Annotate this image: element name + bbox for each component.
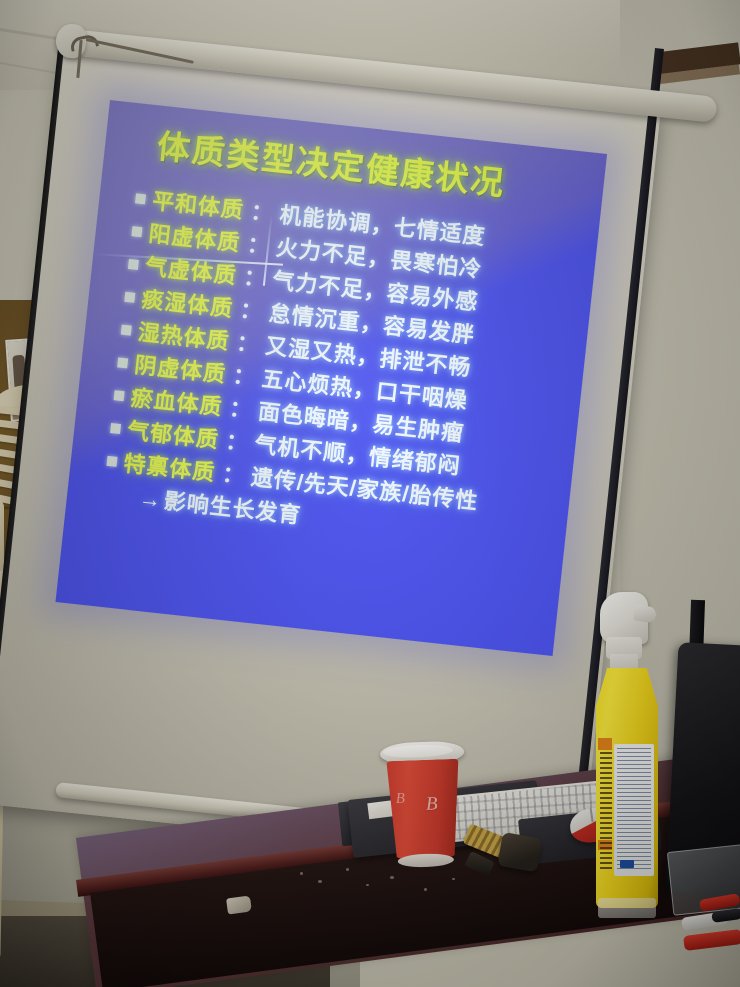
- cup-lid-inner: [383, 744, 453, 758]
- cup-base: [398, 853, 454, 868]
- classroom-photo-scene: 体质类型决定健康状况 平和体质 ： 机能协调，七情适度 阳虚体质 ： 火力不足，…: [0, 0, 740, 987]
- desk-speck: [346, 868, 349, 871]
- bullet-colon: ：: [246, 227, 271, 261]
- spray-label-logo: [620, 860, 634, 868]
- slide-bullet-list: 平和体质 ： 机能协调，七情适度 阳虚体质 ： 火力不足，畏寒怕冷 气虚体质 ：…: [102, 181, 605, 560]
- desk-speck: [452, 878, 455, 880]
- cup-logo: B: [426, 794, 438, 816]
- skeleton-tibia: [0, 780, 4, 960]
- desk-speck: [390, 876, 394, 879]
- bullet-colon: ：: [228, 391, 253, 425]
- bullet-colon: ：: [231, 358, 256, 392]
- projected-slide: 体质类型决定健康状况 平和体质 ： 机能协调，七情适度 阳虚体质 ： 火力不足，…: [55, 100, 607, 656]
- spray-label-orange-band: [598, 738, 612, 750]
- bullet-square-icon: [128, 258, 139, 269]
- mouse-button-split: [590, 808, 594, 822]
- watch-clasp: [464, 851, 494, 877]
- desk-speck: [300, 872, 303, 875]
- cup-logo-secondary: B: [395, 791, 405, 808]
- bullet-square-icon: [121, 324, 132, 335]
- bullet-square-icon: [110, 423, 121, 434]
- desk-speck: [318, 880, 322, 883]
- bullet-square-icon: [131, 226, 142, 237]
- spray-back-label: [614, 744, 654, 876]
- bullet-square-icon: [117, 357, 128, 368]
- whiteboard-marker-red[interactable]: [683, 929, 740, 951]
- red-paper-coffee-cup[interactable]: B B: [384, 741, 464, 874]
- desk-speck: [366, 884, 369, 886]
- spray-side-text: [600, 752, 612, 870]
- bullet-colon: ：: [242, 260, 267, 294]
- bullet-square-icon: [107, 455, 118, 466]
- bullet-colon: ：: [249, 194, 274, 228]
- bullet-colon: ：: [235, 325, 260, 359]
- spray-nozzle-icon[interactable]: [633, 605, 657, 624]
- bullet-colon: ：: [221, 456, 246, 490]
- gold-black-wristwatch[interactable]: [464, 825, 551, 883]
- bullet-square-icon: [135, 193, 146, 204]
- yellow-spray-cleaner-bottle[interactable]: [594, 592, 664, 922]
- spray-bottle-base: [598, 898, 656, 918]
- desk-speck: [424, 888, 427, 891]
- bullet-colon: ：: [239, 292, 264, 326]
- bullet-square-icon: [114, 390, 125, 401]
- bullet-square-icon: [124, 291, 135, 302]
- arrow-right-icon: →: [138, 486, 164, 514]
- bullet-colon: ：: [224, 424, 249, 458]
- cup-body: [386, 759, 461, 859]
- watch-case: [497, 832, 542, 872]
